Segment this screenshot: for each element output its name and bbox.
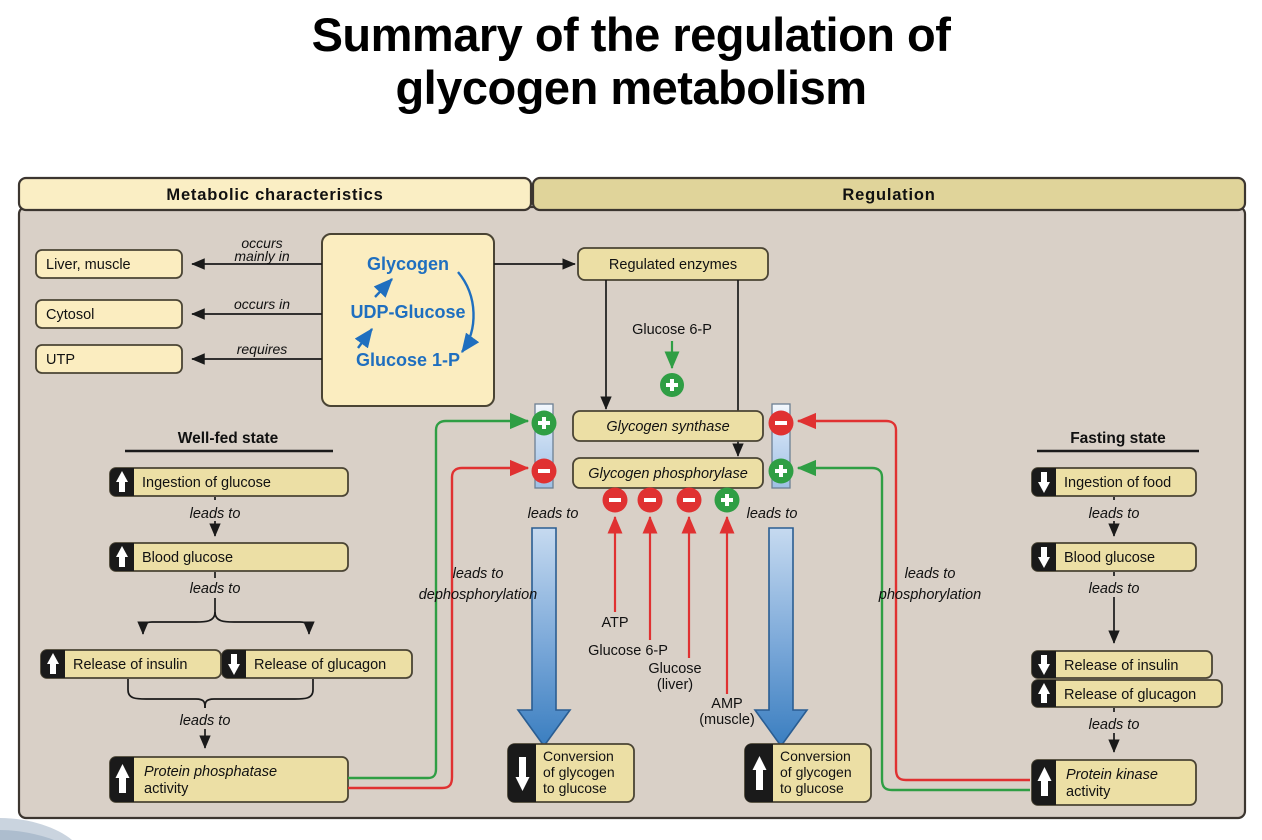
wellfed-label-release-of-insulin: Release of insulin bbox=[73, 657, 187, 673]
fasting-label-release-of-glucagon: Release of glucagon bbox=[1064, 687, 1196, 703]
cycle-udp-glucose-label: UDP-Glucose bbox=[350, 302, 465, 322]
outcome-box-decrease-conversion: Conversion of glycogen to glucose bbox=[508, 744, 634, 802]
fasting-connector-1: leads to bbox=[1089, 506, 1140, 522]
wellfed-box-release-of-glucagon: Release of glucagon bbox=[222, 650, 412, 678]
wellfed-label-release-of-glucagon: Release of glucagon bbox=[254, 657, 386, 673]
modulator-amp-label-line2: (muscle) bbox=[699, 712, 755, 728]
modulator-glucose-liver-label-line2: (liver) bbox=[657, 677, 693, 693]
plus-badge-amp-muscle bbox=[715, 488, 740, 513]
modulator-glucose-liver-label-line1: Glucose bbox=[648, 661, 701, 677]
phosphorylation-caption-line2: phosphorylation bbox=[878, 587, 981, 603]
fasting-label-release-of-insulin: Release of insulin bbox=[1064, 658, 1178, 674]
metabolic-box-utp-label: UTP bbox=[46, 352, 75, 368]
glycogen-phosphorylase-box: Glycogen phosphorylase bbox=[573, 458, 763, 488]
fasting-connector-3: leads to bbox=[1089, 717, 1140, 733]
wellfed-label-protein-phosphatase-line1: Protein phosphatase bbox=[144, 764, 277, 780]
wellfed-connector-3: leads to bbox=[180, 713, 231, 729]
minus-badge-glucose6p bbox=[638, 488, 663, 513]
fasting-label-blood-glucose: Blood glucose bbox=[1064, 550, 1155, 566]
outcome-box-increase-conversion: Conversion of glycogen to glucose bbox=[745, 744, 871, 802]
left-regulation-bar bbox=[532, 404, 557, 488]
cycle-glucose-1p-label: Glucose 1-P bbox=[356, 350, 460, 370]
outcome-right-line2: of glycogen bbox=[780, 764, 852, 780]
metabolic-box-utp: UTP bbox=[36, 345, 182, 373]
regulated-enzymes-label: Regulated enzymes bbox=[609, 257, 737, 273]
wellfed-connector-1: leads to bbox=[190, 506, 241, 522]
minus-badge-atp bbox=[603, 488, 628, 513]
metabolic-box-liver-muscle: Liver, muscle bbox=[36, 250, 182, 278]
wellfed-label-protein-phosphatase-line2: activity bbox=[144, 781, 189, 797]
outcome-left-line2: of glycogen bbox=[543, 764, 615, 780]
outcome-left-line1: Conversion bbox=[543, 748, 614, 764]
outcome-right-line3: to glucose bbox=[780, 780, 844, 796]
glycogen-phosphorylase-label: Glycogen phosphorylase bbox=[588, 466, 748, 482]
connector-label-occurs-in: occurs in bbox=[234, 296, 290, 312]
fasting-connector-2: leads to bbox=[1089, 581, 1140, 597]
glycogen-regulation-diagram: Metabolic characteristics Regulation Gly… bbox=[0, 0, 1262, 840]
cycle-glycogen-label: Glycogen bbox=[367, 254, 449, 274]
minus-badge-glucose-liver bbox=[677, 488, 702, 513]
dephosphorylation-caption-line1: leads to bbox=[453, 566, 504, 582]
plus-badge-right-bar-phosphorylase bbox=[769, 459, 794, 484]
fasting-box-release-of-glucagon: Release of glucagon bbox=[1032, 680, 1222, 707]
modulator-glucose6p-label: Glucose 6-P bbox=[588, 643, 668, 659]
minus-badge-right-bar-synthase bbox=[769, 411, 794, 436]
right-regulation-bar bbox=[769, 404, 794, 488]
wellfed-label-ingestion-of-glucose: Ingestion of glucose bbox=[142, 475, 271, 491]
glycogen-synthase-label: Glycogen synthase bbox=[606, 419, 729, 435]
plus-badge-glucose6p-synthase bbox=[660, 373, 684, 397]
left-bar-leads-to-label: leads to bbox=[528, 506, 579, 522]
fasting-label-protein-kinase-line2: activity bbox=[1066, 784, 1111, 800]
fasting-box-protein-kinase-activity: Protein kinase activity bbox=[1032, 760, 1196, 805]
wellfed-box-ingestion-of-glucose: Ingestion of glucose bbox=[110, 468, 348, 496]
wellfed-label-blood-glucose: Blood glucose bbox=[142, 550, 233, 566]
corner-swoosh-decoration bbox=[0, 818, 72, 840]
fasting-label-protein-kinase-line1: Protein kinase bbox=[1066, 767, 1158, 783]
outcome-left-line3: to glucose bbox=[543, 780, 607, 796]
wellfed-connector-2: leads to bbox=[190, 581, 241, 597]
glycogen-synthase-box: Glycogen synthase bbox=[573, 411, 763, 441]
fasting-box-blood-glucose: Blood glucose bbox=[1032, 543, 1196, 571]
minus-badge-left-bar-phosphorylase bbox=[532, 459, 557, 484]
header-left-label: Metabolic characteristics bbox=[166, 186, 383, 204]
connector-label-occurs-mainly-in-line2: mainly in bbox=[234, 248, 289, 264]
regulated-enzymes-box: Regulated enzymes bbox=[578, 248, 768, 280]
glycogen-cycle-box: Glycogen UDP-Glucose Glucose 1-P bbox=[322, 234, 494, 406]
metabolic-box-liver-muscle-label: Liver, muscle bbox=[46, 257, 131, 273]
dephosphorylation-caption-line2: dephosphorylation bbox=[419, 587, 538, 603]
wellfed-box-protein-phosphatase-activity: Protein phosphatase activity bbox=[110, 757, 348, 802]
fasting-label-ingestion-of-food: Ingestion of food bbox=[1064, 475, 1171, 491]
wellfed-box-release-of-insulin: Release of insulin bbox=[41, 650, 221, 678]
plus-badge-left-bar-synthase bbox=[532, 411, 557, 436]
metabolic-box-cytosol: Cytosol bbox=[36, 300, 182, 328]
fasting-heading: Fasting state bbox=[1070, 430, 1166, 447]
outcome-right-line1: Conversion bbox=[780, 748, 851, 764]
modulator-amp-label-line1: AMP bbox=[711, 696, 742, 712]
connector-label-requires: requires bbox=[237, 341, 288, 357]
phosphorylation-caption-line1: leads to bbox=[905, 566, 956, 582]
well-fed-heading: Well-fed state bbox=[178, 430, 279, 447]
wellfed-box-blood-glucose: Blood glucose bbox=[110, 543, 348, 571]
fasting-box-release-of-insulin: Release of insulin bbox=[1032, 651, 1212, 678]
allosteric-glucose-6p-label: Glucose 6-P bbox=[632, 322, 712, 338]
metabolic-box-cytosol-label: Cytosol bbox=[46, 307, 94, 323]
fasting-box-ingestion-of-food: Ingestion of food bbox=[1032, 468, 1196, 496]
header-right-label: Regulation bbox=[842, 186, 935, 204]
right-bar-leads-to-label: leads to bbox=[747, 506, 798, 522]
modulator-atp-label: ATP bbox=[601, 615, 628, 631]
